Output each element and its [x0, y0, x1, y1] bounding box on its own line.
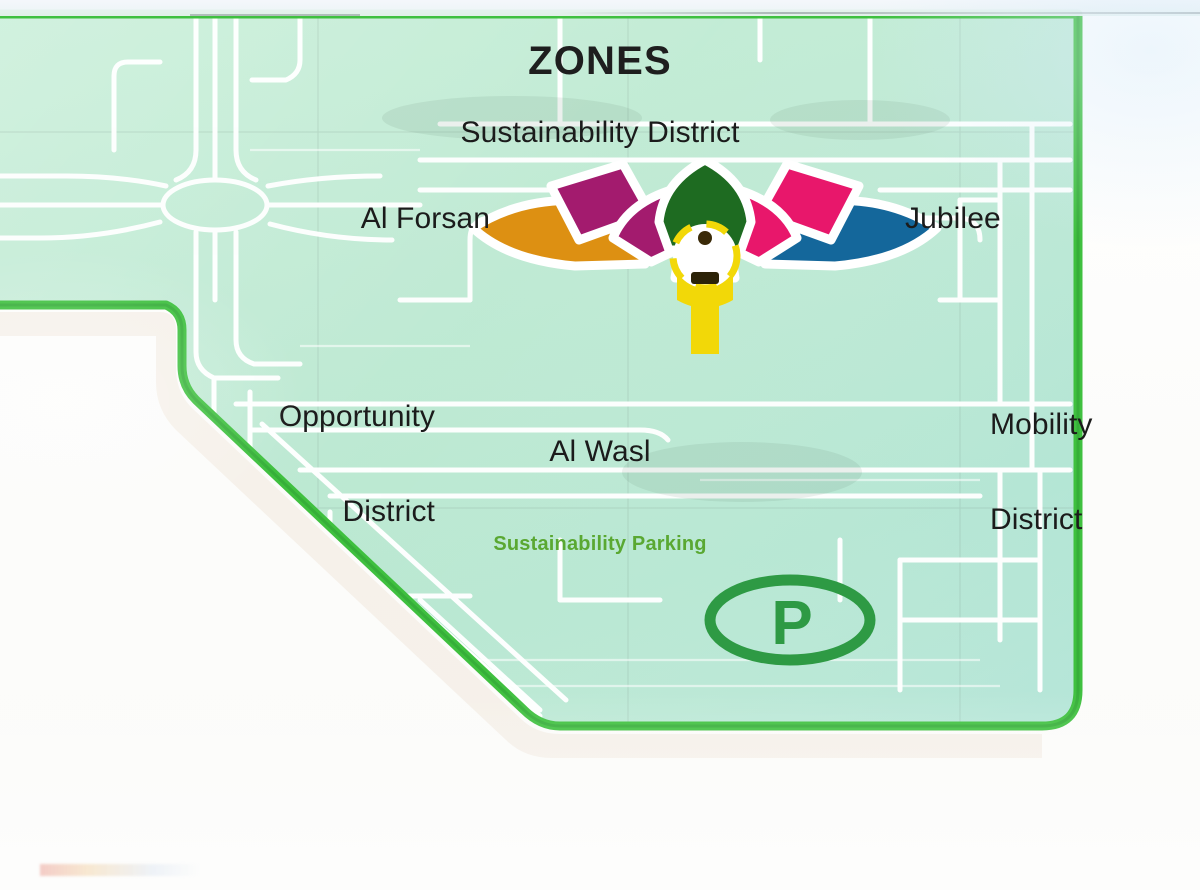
zone-label-mobility-line2: District	[990, 504, 1200, 536]
zone-label-sustainability-district: Sustainability District	[0, 117, 1200, 149]
logo-hub-base-node	[691, 272, 719, 284]
parking-p-icon: P	[700, 574, 880, 666]
zone-label-opportunity-line1: Opportunity	[110, 401, 435, 433]
zone-label-al-wasl: Al Wasl	[0, 436, 1200, 468]
zone-label-opportunity-line2: District	[110, 496, 435, 528]
scan-artifact-line	[560, 12, 1200, 14]
zone-label-al-forsan: Al Forsan	[180, 203, 490, 235]
expo-flower-logo	[455, 160, 955, 410]
parking-label: Sustainability Parking	[0, 534, 1200, 555]
zone-map-page: ZONES Sustainability District Al Forsan …	[0, 0, 1200, 890]
zone-label-mobility-district: Mobility District	[990, 345, 1200, 599]
scan-artifact-line-2	[190, 14, 360, 16]
logo-hub-top-node	[698, 231, 712, 245]
parking-icon-letter: P	[771, 589, 812, 658]
page-title: ZONES	[0, 40, 1200, 82]
zone-label-jubilee: Jubilee	[905, 203, 1185, 235]
